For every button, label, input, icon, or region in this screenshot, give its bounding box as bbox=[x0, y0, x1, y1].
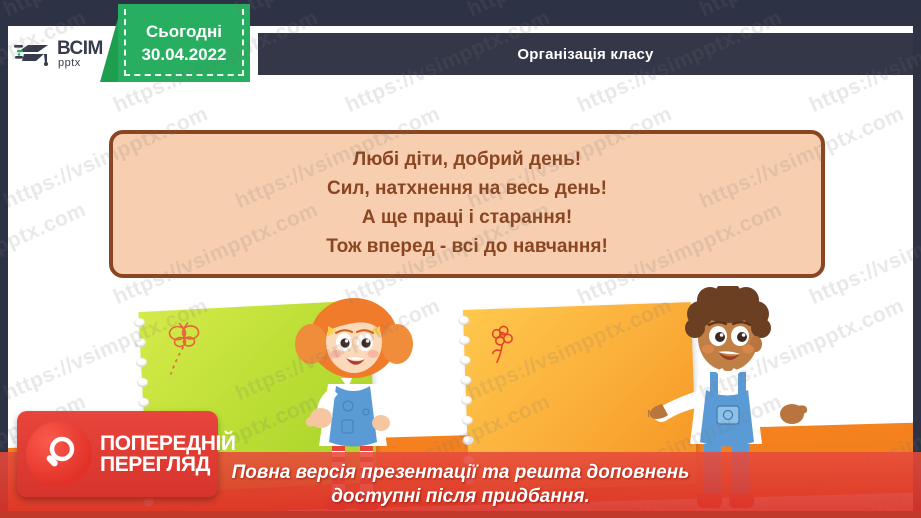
banner-bottom-edge bbox=[0, 511, 921, 518]
magnifier-icon bbox=[26, 421, 92, 487]
poem-line-3: А ще праці і старання! bbox=[362, 205, 572, 232]
graduation-cap-icon bbox=[14, 39, 54, 69]
poem-line-2: Сил, натхнення на весь день! bbox=[327, 176, 607, 203]
preview-label-line2: ПЕРЕГЛЯД bbox=[100, 454, 236, 475]
poem-line-1: Любі діти, добрий день! bbox=[353, 147, 581, 174]
today-date-badge: Сьогодні 30.04.2022 bbox=[118, 4, 250, 82]
banner-line-1: Повна версія презентації та решта доповн… bbox=[232, 461, 690, 485]
date-value: 30.04.2022 bbox=[141, 45, 226, 65]
poem-text-box: Любі діти, добрий день! Сил, натхнення н… bbox=[109, 130, 825, 278]
logo-brand-text: ВСІМ bbox=[57, 40, 103, 58]
date-label: Сьогодні bbox=[146, 22, 222, 42]
watermark-text: https://vsimpptx.com bbox=[696, 0, 908, 22]
page-title: Організація класу bbox=[517, 46, 653, 63]
banner-line-2: доступні після придбання. bbox=[331, 485, 590, 509]
watermark-text: https://vsimpptx.com bbox=[232, 0, 444, 22]
preview-label-line1: ПОПЕРЕДНІЙ bbox=[100, 433, 236, 454]
date-ribbon: Сьогодні 30.04.2022 bbox=[100, 0, 250, 82]
slide-header-bar: Організація класу bbox=[258, 33, 913, 75]
butterfly-doodle bbox=[163, 320, 218, 388]
poem-line-4: Тож вперед - всі до навчання! bbox=[326, 234, 608, 261]
watermark-text: https://vsimpptx.com bbox=[464, 0, 676, 22]
preview-badge[interactable]: ПОПЕРЕДНІЙ ПЕРЕГЛЯД bbox=[17, 411, 218, 497]
flower-doodle bbox=[487, 320, 533, 379]
logo-suffix-text: pptx bbox=[58, 58, 103, 68]
presentation-slide: Любі діти, добрий день! Сил, натхнення н… bbox=[0, 0, 921, 518]
